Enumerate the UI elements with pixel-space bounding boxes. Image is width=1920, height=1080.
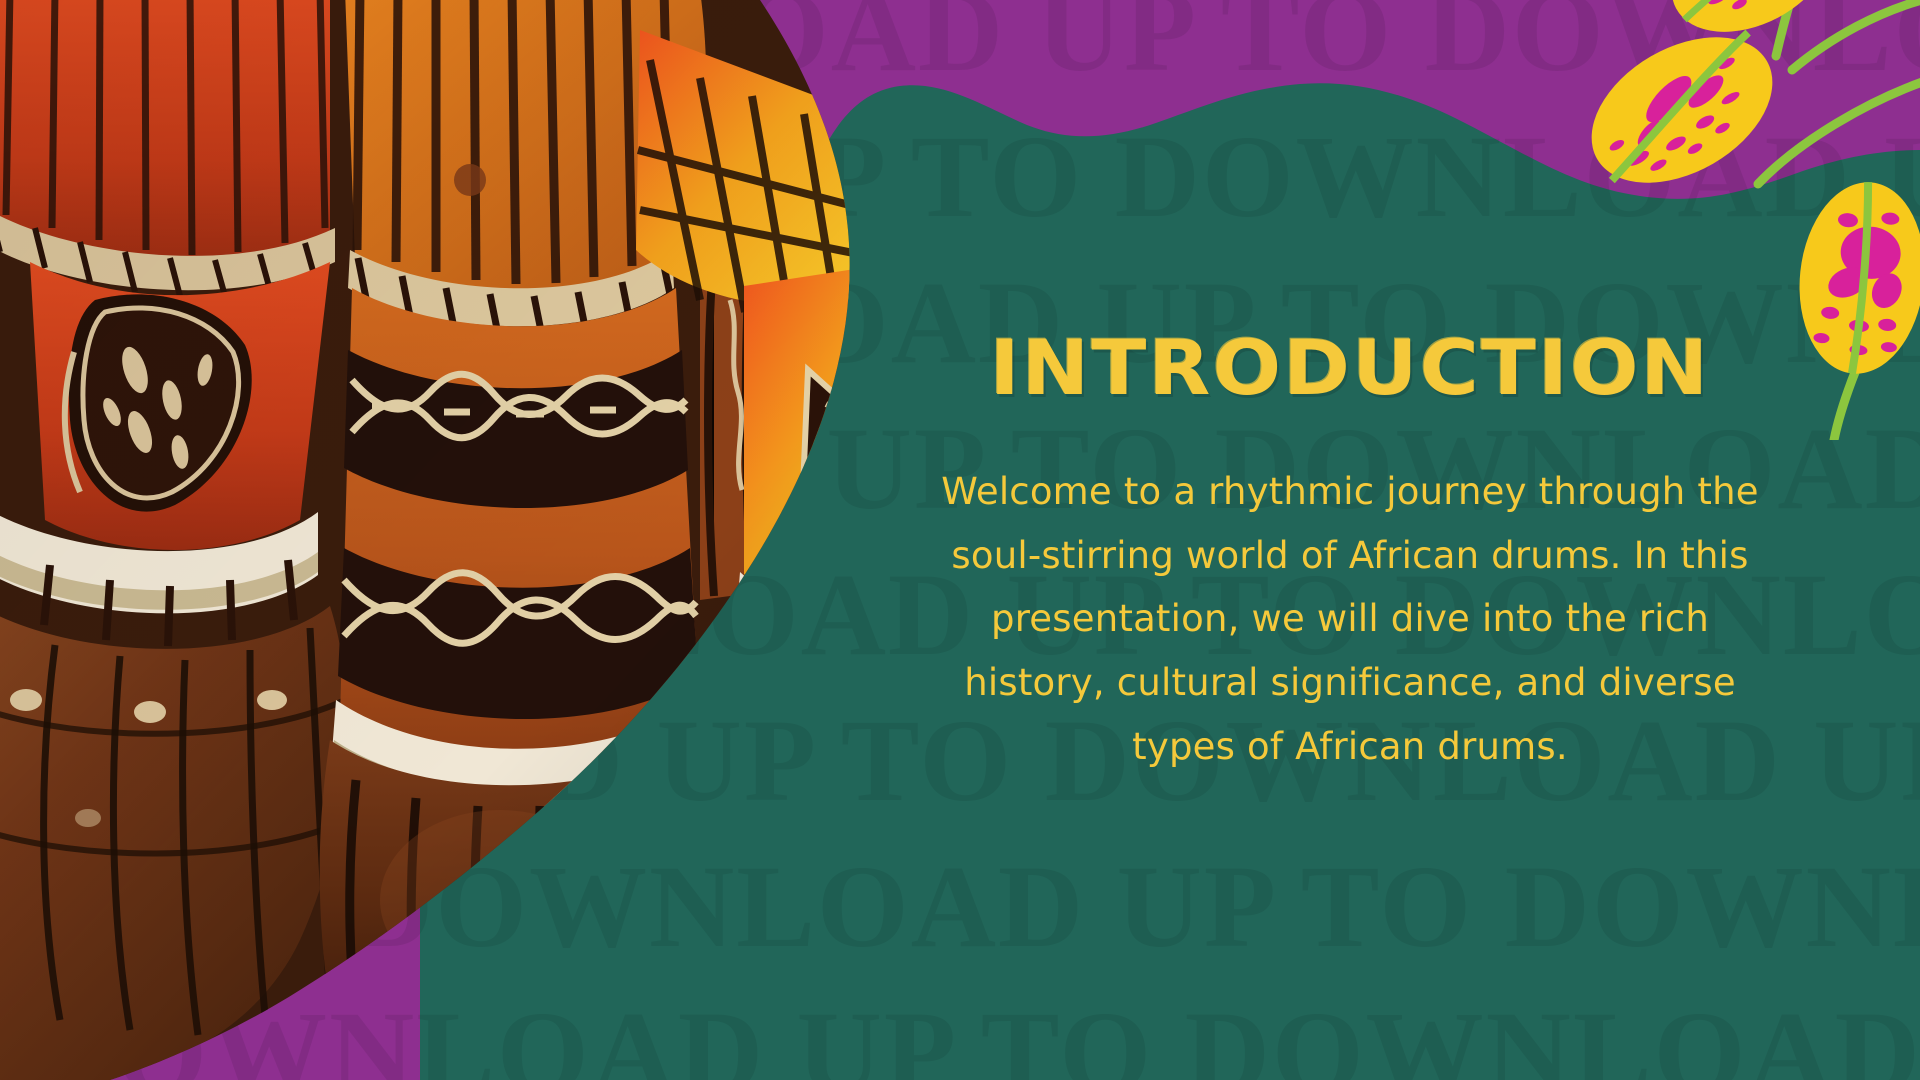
slide-canvas: UP TO DOWNLOAD UP TO DOWNLOAD UP TO DOWN…: [0, 0, 1920, 1080]
body-paragraph: Welcome to a rhythmic journey through th…: [930, 460, 1770, 778]
text-column: INTRODUCTION Welcome to a rhythmic journ…: [930, 330, 1770, 778]
drums-photo: [0, 0, 1000, 1080]
hero-image-container: [0, 0, 1000, 1080]
page-title: INTRODUCTION: [905, 330, 1795, 406]
